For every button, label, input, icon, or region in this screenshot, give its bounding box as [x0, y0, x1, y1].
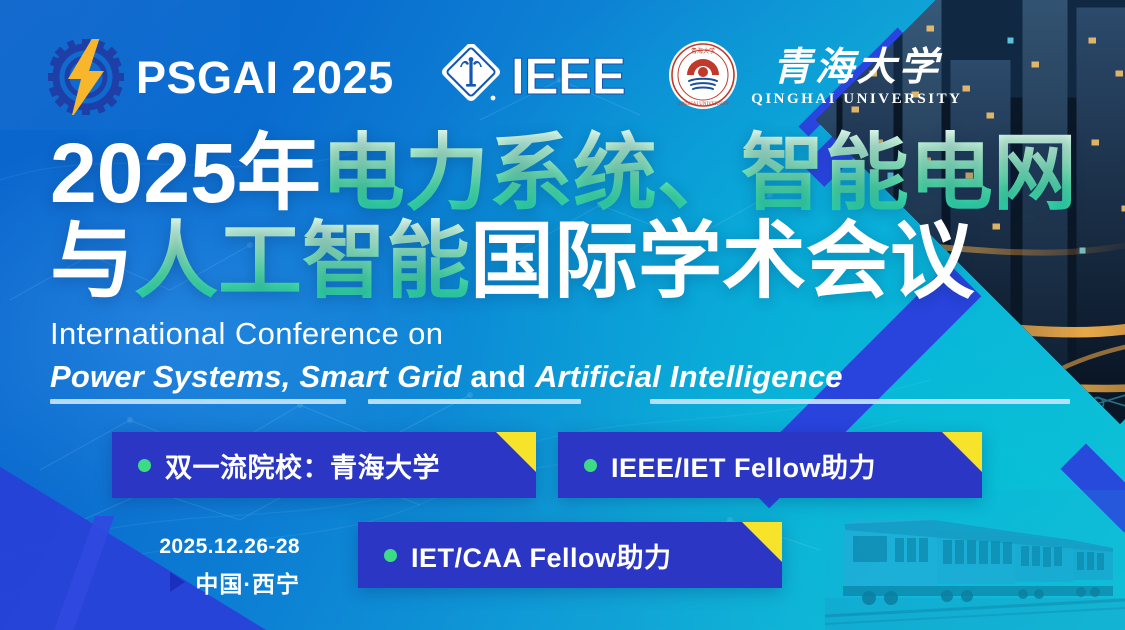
train-photo — [825, 490, 1125, 630]
qinghai-names: 青海大学 QINGHAI UNIVERSITY — [751, 48, 962, 107]
corner-triangle-icon — [742, 522, 782, 562]
main-title: 2025年电力系统、智能电网 与人工智能国际学术会议 — [50, 132, 1077, 309]
psgai-logo: PSGAI 2025 — [48, 39, 394, 115]
badge-double-first-class[interactable]: 双一流院校：青海大学 — [112, 432, 536, 498]
corner-triangle-icon — [942, 432, 982, 472]
subtitle-line-2: Power Systems, Smart Grid and Artificial… — [50, 358, 843, 396]
qinghai-name-en: QINGHAI UNIVERSITY — [751, 92, 962, 107]
event-location-row: 中国·西宁 — [110, 565, 300, 599]
subtitle-underlines — [50, 399, 1070, 405]
badge-label: 双一流院校：青海大学 — [165, 446, 440, 485]
badge-iet-caa-fellow[interactable]: IET/CAA Fellow助力 — [358, 522, 782, 588]
title-seg-power-grid: 电力系统、智能电网 — [321, 126, 1077, 220]
qinghai-name-cn: 青海大学 — [773, 48, 941, 87]
train-icon — [825, 490, 1125, 630]
underline-1 — [50, 399, 346, 404]
triangle-play-icon — [170, 572, 185, 592]
subtitle-line-1: International Conference on — [50, 316, 843, 353]
subtitle-part-power-systems: Power Systems, Smart Grid — [50, 359, 462, 394]
event-info: 2025.12.26-28 中国·西宁 — [110, 534, 300, 599]
badge-label: IET/CAA Fellow助力 — [411, 536, 672, 575]
underline-2 — [368, 399, 581, 404]
qinghai-university-logo: 青海大学 QINGHAI UNIVERSITY 青海大学 QINGHAI UNI… — [667, 39, 962, 116]
title-seg-ai: 人工智能 — [134, 214, 470, 308]
logo-row: PSGAI 2025 — [48, 38, 962, 116]
title-seg-conference: 国际学术会议 — [470, 214, 974, 308]
seal-en-text: QINGHAI UNIVERSITY — [677, 102, 730, 107]
ieee-logo: IEEE — [440, 44, 626, 111]
subtitle-part-and: and — [462, 359, 535, 394]
title-seg-year: 2025年 — [50, 126, 321, 220]
badge-label: IEEE/IET Fellow助力 — [611, 446, 876, 485]
english-subtitle: International Conference on Power System… — [50, 316, 843, 395]
event-location: 中国·西宁 — [195, 565, 300, 599]
title-line-2: 与人工智能国际学术会议 — [50, 220, 1077, 302]
bullet-dot-icon — [584, 459, 597, 472]
corner-triangle-icon — [496, 432, 536, 472]
ieee-diamond-icon — [440, 44, 502, 111]
conference-banner: PSGAI 2025 — [0, 0, 1125, 630]
subtitle-part-ai: Artificial Intelligence — [535, 359, 843, 394]
bullet-dot-icon — [384, 549, 397, 562]
qinghai-university-seal-icon: 青海大学 QINGHAI UNIVERSITY — [667, 39, 739, 116]
bullet-dot-icon — [138, 459, 151, 472]
title-seg-and: 与 — [50, 214, 134, 308]
gear-lightning-icon — [48, 39, 124, 115]
title-line-1: 2025年电力系统、智能电网 — [50, 132, 1077, 214]
psgai-label: PSGAI 2025 — [136, 55, 394, 100]
event-date: 2025.12.26-28 — [110, 534, 300, 559]
underline-3 — [650, 399, 1070, 404]
ieee-label: IEEE — [511, 51, 626, 103]
svg-text:青海大学: 青海大学 — [691, 47, 715, 55]
badge-ieee-iet-fellow[interactable]: IEEE/IET Fellow助力 — [558, 432, 982, 498]
